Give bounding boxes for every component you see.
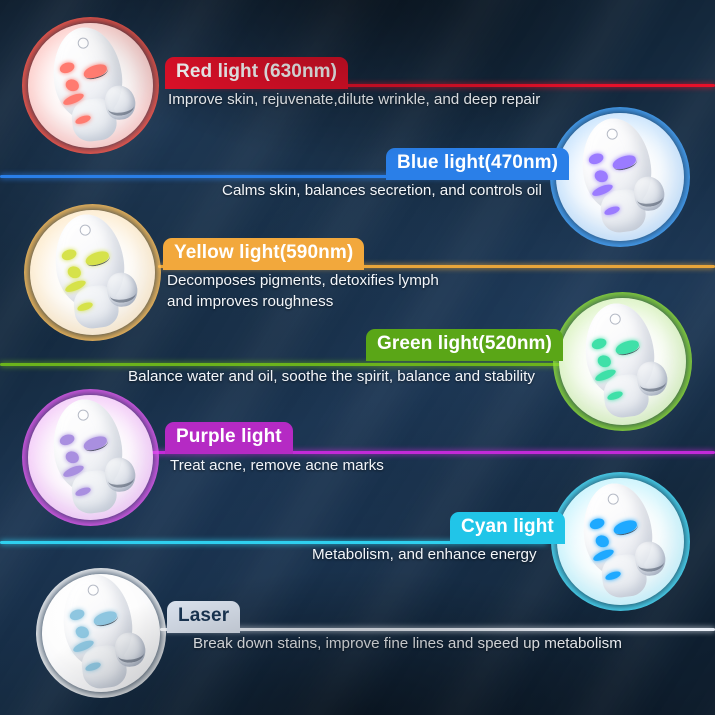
mode-badge-purple[interactable]: Purple light xyxy=(165,422,293,454)
mode-description-red: Improve skin, rejuvenate,dilute wrinkle,… xyxy=(168,90,540,111)
mode-badge-green[interactable]: Green light(520nm) xyxy=(366,329,563,361)
mode-badge-yellow[interactable]: Yellow light(590nm) xyxy=(163,238,364,270)
mode-description-cyan: Metabolism, and enhance energy xyxy=(312,545,537,566)
text-layer: Red light (630nm) Improve skin, rejuvena… xyxy=(0,0,715,715)
mode-description-laser: Break down stains, improve fine lines an… xyxy=(193,634,622,655)
mode-description-purple: Treat acne, remove acne marks xyxy=(170,456,384,477)
mode-description-blue: Calms skin, balances secretion, and cont… xyxy=(222,181,542,202)
mode-badge-red[interactable]: Red light (630nm) xyxy=(165,57,348,89)
infographic-poster: Red light (630nm) Improve skin, rejuvena… xyxy=(0,0,715,715)
mode-description-yellow: Decomposes pigments, detoxifies lymph an… xyxy=(167,271,497,312)
mode-badge-cyan[interactable]: Cyan light xyxy=(450,512,565,544)
mode-description-green: Balance water and oil, soothe the spirit… xyxy=(128,367,535,388)
mode-badge-blue[interactable]: Blue light(470nm) xyxy=(386,148,569,180)
mode-badge-laser[interactable]: Laser xyxy=(167,601,240,633)
